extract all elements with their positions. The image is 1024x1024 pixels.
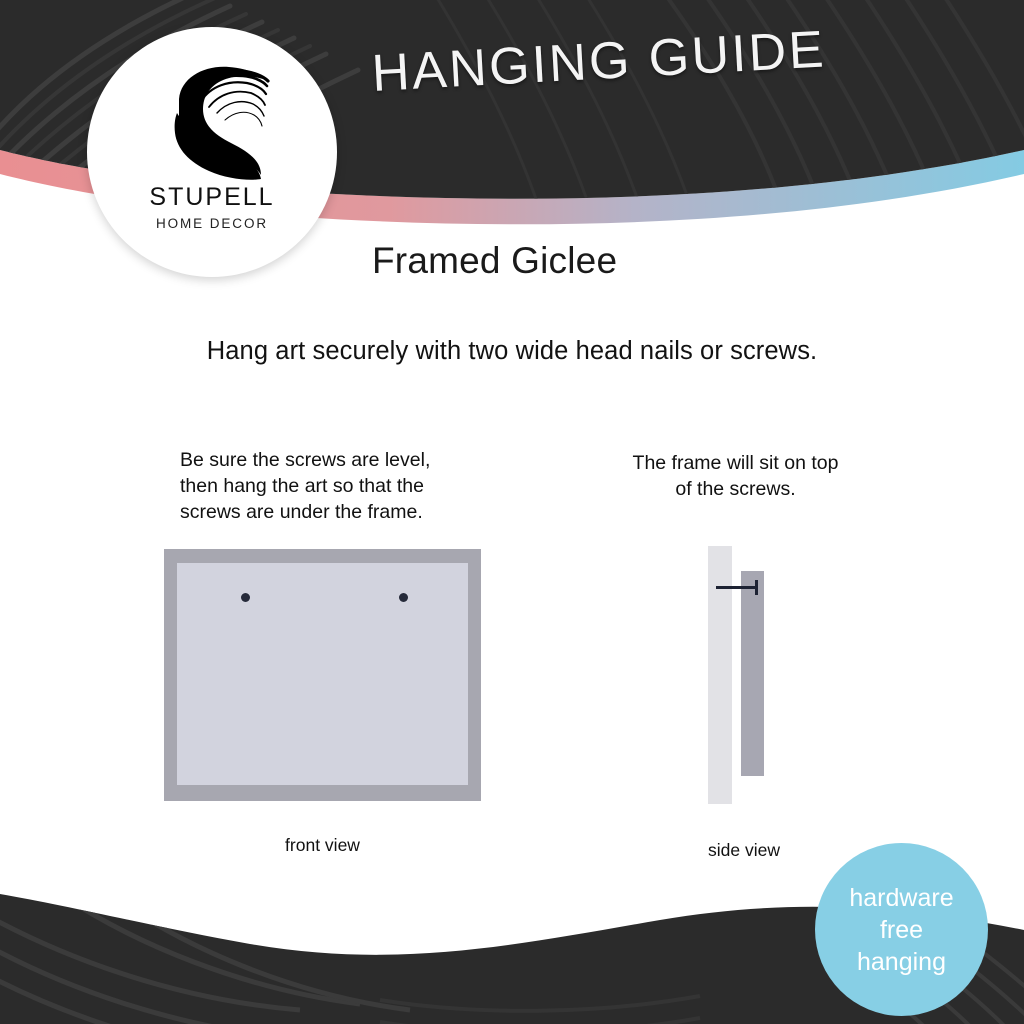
nail-shaft-icon (716, 586, 758, 589)
main-instruction-text: Hang art securely with two wide head nai… (0, 337, 1024, 366)
front-view-caption: Be sure the screws are level, then hang … (180, 447, 480, 525)
screw-dot-right (399, 593, 408, 602)
front-view-label: front view (164, 835, 481, 856)
badge-line-2: free (880, 914, 923, 946)
hardware-free-hanging-badge: hardware free hanging (815, 843, 988, 1016)
frame-profile-shape (741, 571, 764, 776)
side-caption-line-2: of the screws. (598, 476, 873, 502)
brand-name: STUPELL (149, 185, 274, 210)
screw-dot-left (241, 593, 250, 602)
brand-logo-badge: STUPELL HOME DECOR (87, 27, 337, 277)
front-caption-line-3: screws are under the frame. (180, 499, 480, 525)
front-view-frame-diagram (164, 549, 481, 801)
product-type-title: Framed Giclee (372, 240, 617, 282)
page-title: HANGING GUIDE (370, 19, 827, 103)
side-view-caption: The frame will sit on top of the screws. (598, 450, 873, 502)
front-caption-line-1: Be sure the screws are level, (180, 447, 480, 473)
front-caption-line-2: then hang the art so that the (180, 473, 480, 499)
badge-line-3: hanging (857, 946, 946, 978)
hanging-guide-page: STUPELL HOME DECOR HANGING GUIDE Framed … (0, 0, 1024, 1024)
side-caption-line-1: The frame will sit on top (598, 450, 873, 476)
side-view-label: side view (660, 840, 828, 861)
stupell-swirl-logo-icon (153, 55, 271, 183)
side-view-frame-diagram (708, 546, 780, 804)
brand-tagline: HOME DECOR (156, 217, 268, 231)
nail-head-icon (755, 580, 758, 595)
frame-mat-area (177, 563, 468, 785)
wall-surface-shape (708, 546, 732, 804)
badge-line-1: hardware (849, 882, 953, 914)
